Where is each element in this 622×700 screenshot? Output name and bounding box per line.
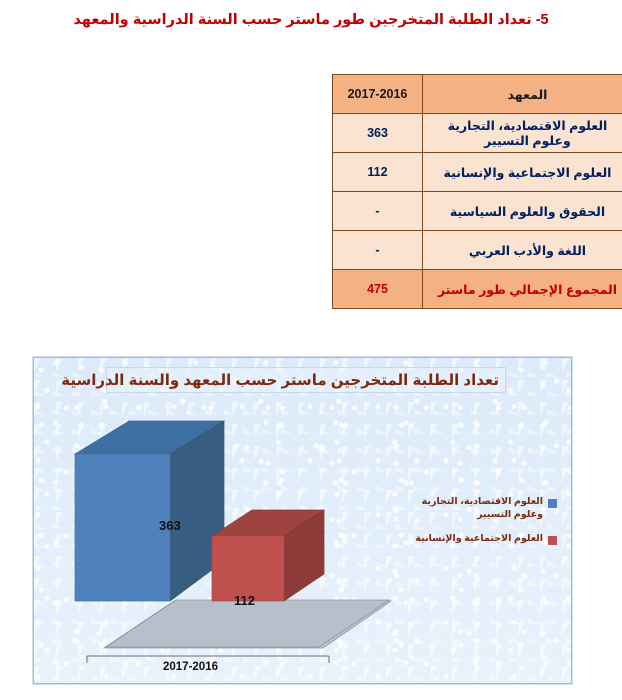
row-label: اللغة والأدب العربي	[423, 231, 622, 270]
row-value: -	[333, 192, 423, 231]
row-label: العلوم الاقتصادية، التجارية وعلوم التسيي…	[423, 114, 622, 153]
legend-item-economics[interactable]: العلوم الاقتصادية، التجارية وعلوم التسيي…	[405, 496, 557, 522]
table-header-row: المعهد 2017-2016	[333, 75, 622, 114]
bar-label-363: 363	[159, 518, 181, 533]
graduates-table-container: المعهد 2017-2016 العلوم الاقتصادية، التج…	[333, 74, 622, 309]
legend-item-social[interactable]: العلوم الاجتماعية والإنسانية	[405, 533, 557, 546]
table-row: اللغة والأدب العربي -	[333, 231, 622, 270]
table-row: العلوم الاقتصادية، التجارية وعلوم التسيي…	[333, 114, 622, 153]
legend-label-economics: العلوم الاقتصادية، التجارية وعلوم التسيي…	[405, 496, 543, 522]
chart-legend: العلوم الاقتصادية، التجارية وعلوم التسيي…	[405, 496, 557, 556]
row-value: -	[333, 231, 423, 270]
bar-series-economics	[75, 421, 224, 601]
row-label: الحقوق والعلوم السياسية	[423, 192, 622, 231]
graduates-table: المعهد 2017-2016 العلوم الاقتصادية، التج…	[332, 74, 622, 309]
total-value: 475	[333, 270, 423, 309]
legend-swatch-red-icon	[548, 536, 557, 545]
legend-swatch-blue-icon	[548, 499, 557, 508]
table-total-row: المجموع الإجمالي طور ماستر 475	[333, 270, 622, 309]
legend-label-social: العلوم الاجتماعية والإنسانية	[415, 533, 543, 546]
bar-front-face	[75, 454, 170, 601]
row-value: 363	[333, 114, 423, 153]
total-label: المجموع الإجمالي طور ماستر	[423, 270, 622, 309]
column-header-institute: المعهد	[423, 75, 622, 114]
category-axis-label: 2017-2016	[163, 661, 218, 673]
page-title: 5- تعداد الطلبة المتخرجين طور ماستر حسب …	[0, 12, 622, 28]
column-header-year: 2017-2016	[333, 75, 423, 114]
bar-front-face	[212, 536, 284, 601]
table-row: العلوم الاجتماعية والإنسانية 112	[333, 153, 622, 192]
bar-series-social	[212, 510, 324, 601]
row-value: 112	[333, 153, 423, 192]
row-label: العلوم الاجتماعية والإنسانية	[423, 153, 622, 192]
bar-label-112: 112	[234, 593, 255, 608]
chart-container: تعداد الطلبة المتخرجين ماستر حسب المعهد …	[33, 357, 572, 684]
table-row: الحقوق والعلوم السياسية -	[333, 192, 622, 231]
